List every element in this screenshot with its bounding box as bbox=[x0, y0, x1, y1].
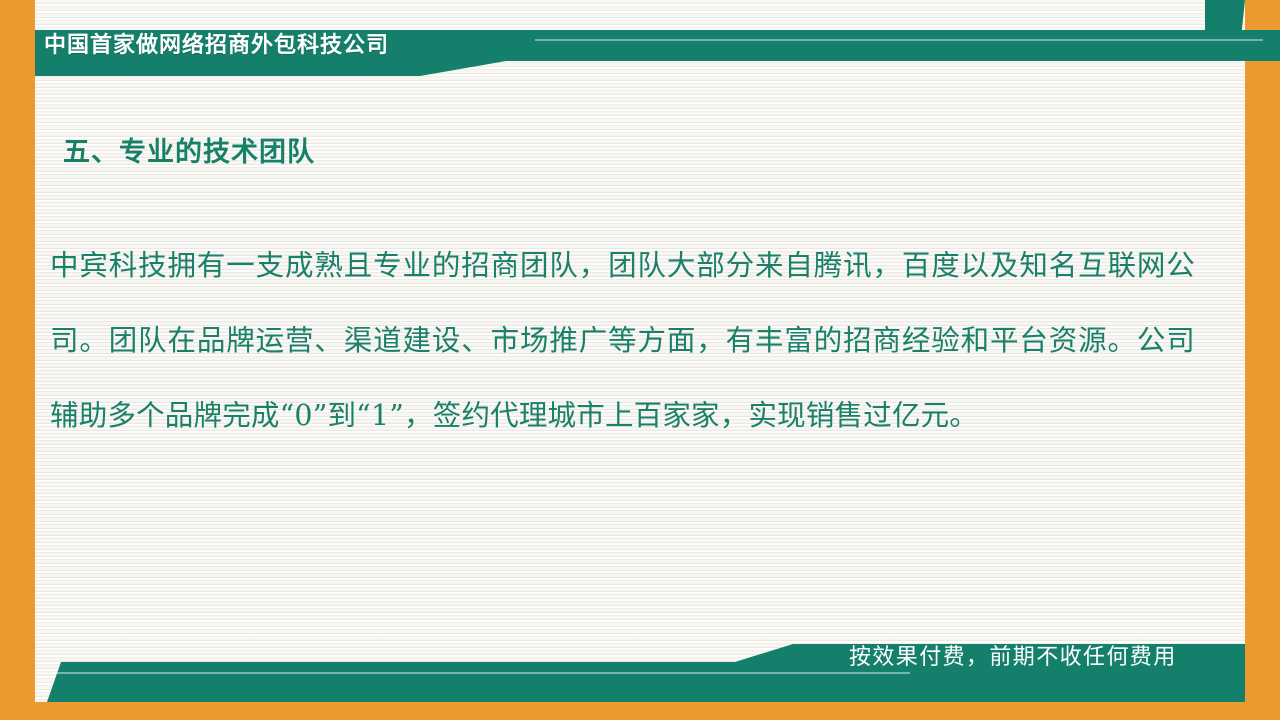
footer-slogan: 按效果付费，前期不收任何费用 bbox=[849, 644, 1177, 672]
body-paragraph: 中宾科技拥有一支成熟且专业的招商团队，团队大部分来自腾讯，百度以及知名互联网公司… bbox=[50, 228, 1195, 453]
presentation-slide: 中国首家做网络招商外包科技公司 五、专业的技术团队 中宾科技拥有一支成熟且专业的… bbox=[0, 0, 1280, 720]
section-title: 五、专业的技术团队 bbox=[63, 136, 315, 170]
orange-rail-bottom bbox=[35, 702, 1245, 720]
slide-body: 五、专业的技术团队 中宾科技拥有一支成熟且专业的招商团队，团队大部分来自腾讯，百… bbox=[35, 100, 1245, 620]
orange-rail-left bbox=[0, 0, 35, 720]
paragraph-text: 中宾科技拥有一支成熟且专业的招商团队，团队大部分来自腾讯，百度以及知名互联网公司… bbox=[50, 228, 1195, 453]
header-title: 中国首家做网络招商外包科技公司 bbox=[44, 33, 389, 59]
orange-rail-right bbox=[1245, 0, 1280, 720]
